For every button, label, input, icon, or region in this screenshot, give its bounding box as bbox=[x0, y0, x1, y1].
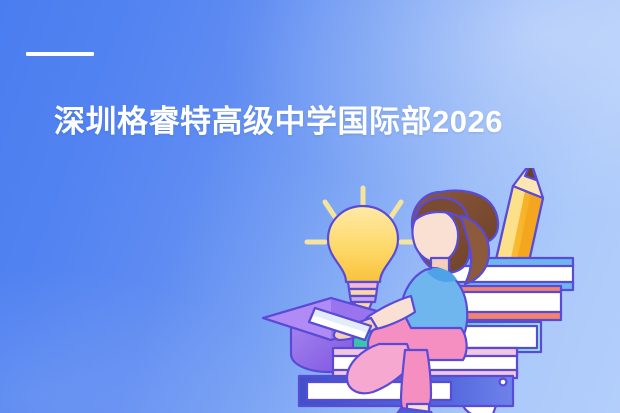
lightbulb-icon bbox=[328, 206, 398, 309]
page-title: 深圳格睿特高级中学国际部2026 bbox=[54, 103, 574, 142]
accent-divider-rule bbox=[26, 52, 94, 56]
school-promo-banner: 深圳格睿特高级中学国际部2026 bbox=[0, 0, 620, 413]
student-reading-illustration bbox=[255, 168, 620, 413]
